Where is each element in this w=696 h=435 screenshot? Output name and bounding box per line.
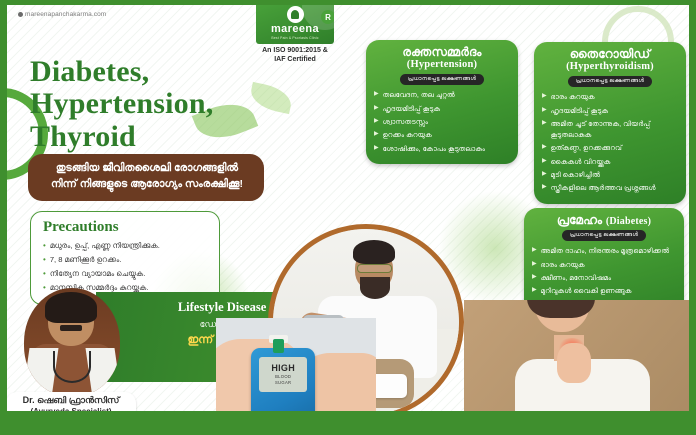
bullet-icon: • xyxy=(43,281,46,295)
symptom-card-hypertension: രക്തസമ്മർദം (Hypertension) പ്രധാനപ്പെട്ട… xyxy=(366,40,518,164)
card-title-english: (Hypertension) xyxy=(374,59,510,71)
symptom-item: ▶ ക്ഷീണം, മനോവിഷമം xyxy=(532,272,676,283)
symptom-item: ▶ മുടി കൊഴിച്ചിൽ xyxy=(542,169,678,180)
bullet-icon: • xyxy=(43,253,46,267)
arrow-icon: ▶ xyxy=(532,272,537,282)
symptom-text: ഭാരം കുറയുക xyxy=(541,259,585,270)
symptom-text: ക്ഷീണം, മനോവിഷമം xyxy=(541,272,612,283)
card-title-malayalam: രക്തസമ്മർദം xyxy=(374,46,510,59)
arrow-icon: ▶ xyxy=(374,103,379,113)
symptom-item: ▶ ഹൃദയമിടിപ്പ് കൂടുക xyxy=(542,105,678,116)
symptom-text: ശ്വാസതടസ്സം xyxy=(383,116,428,127)
symptom-item: ▶ ഭാരം കുറയുക xyxy=(532,259,676,270)
symptoms-badge: പ്രധാനപ്പെട്ട ലക്ഷണങ്ങൾ xyxy=(562,230,646,241)
symptom-text: സ്ത്രീകളിലെ ആർത്തവ പ്രശ്നങ്ങൾ xyxy=(551,182,656,193)
page-title: Diabetes, Hypertension, Thyroid xyxy=(30,56,213,153)
symptom-text: ഉറക്കം കുറയുക xyxy=(383,129,432,140)
symptom-text: ഉത്കണ്ഠ, ഉറക്കക്കുറവ് xyxy=(551,142,622,153)
symptom-text: ഹൃദയമിടിപ്പ് കൂടുക xyxy=(551,105,609,116)
symptom-text: മുടി കൊഴിച്ചിൽ xyxy=(551,169,601,180)
bullet-icon: • xyxy=(43,239,46,253)
symptom-text: തലവേദന, തല ചുറ്റൽ xyxy=(383,89,455,100)
malayalam-tagline-banner: തുടങ്ങിയ ജീവിതശൈലി രോഗങ്ങളിൽ നിന്ന് നിങ്… xyxy=(28,154,264,201)
logo-name: mareena xyxy=(271,24,319,35)
precaution-item: • മധുരം, ഉപ്പ്, എണ്ണ നിയന്ത്രിക്കുക. xyxy=(43,239,209,253)
arrow-icon: ▶ xyxy=(532,245,537,255)
arrow-icon: ▶ xyxy=(542,105,547,115)
title-line-3: Thyroid xyxy=(30,121,213,153)
precaution-text: നിത്യേന വ്യായാമം ചെയ്യുക. xyxy=(50,267,146,281)
glucometer-sublabel: BLOOD SUGAR xyxy=(275,374,291,385)
symptom-item: ▶ ഉറക്കം കുറയുക xyxy=(374,129,510,140)
frame-edge-top xyxy=(0,0,696,5)
arrow-icon: ▶ xyxy=(542,169,547,179)
tagline-line-1: തുടങ്ങിയ ജീവിതശൈലി രോഗങ്ങളിൽ xyxy=(40,161,254,177)
doctor-portrait xyxy=(24,288,120,396)
brand-logo: R mareena Best Pain & Psoriasis Clinic A… xyxy=(252,2,338,65)
arrow-icon: ▶ xyxy=(542,118,547,128)
symptoms-badge: പ്രധാനപ്പെട്ട ലക്ഷണങ്ങൾ xyxy=(400,74,484,85)
website-url[interactable]: mareenapanchakarma.com xyxy=(18,11,106,18)
precaution-text: 7, 8 മണിക്കൂർ ഉറക്കം. xyxy=(50,253,122,267)
card-title: രക്തസമ്മർദം (Hypertension) xyxy=(374,46,510,71)
symptom-text: അമിത ദാഹം, നിരന്തരം മൂത്രമൊഴിക്കൽ xyxy=(541,245,670,256)
arrow-icon: ▶ xyxy=(532,259,537,269)
eyeglasses-icon xyxy=(357,264,392,273)
arrow-icon: ▶ xyxy=(532,285,537,295)
symptom-text: അമിത ചൂട് തോന്നുക, വിയർപ്പ് കൂടുതലാകുക xyxy=(551,118,678,140)
symptom-text: ഹൃദയമിടിപ്പ് കൂടുക xyxy=(383,103,441,114)
glucometer-reading: HIGH xyxy=(271,364,295,373)
logo-card: R mareena Best Pain & Psoriasis Clinic xyxy=(256,2,334,44)
arrow-icon: ▶ xyxy=(374,89,379,99)
frame-edge-bottom xyxy=(0,411,696,435)
registered-mark-icon: R xyxy=(321,10,334,24)
doctor-name: Dr. ഷെബി ഫ്രാൻസിസ് xyxy=(12,395,130,407)
card-title-english: (Diabetes) xyxy=(606,216,651,227)
tagline-line-2: നിന്ന് നിങ്ങളുടെ ആരോഗ്യം സംരക്ഷിക്കൂ! xyxy=(40,177,254,193)
precaution-item: • 7, 8 മണിക്കൂർ ഉറക്കം. xyxy=(43,253,209,267)
symptom-item: ▶ ഭാരം കുറയുക xyxy=(542,91,678,102)
precautions-title: Precautions xyxy=(43,219,209,236)
arrow-icon: ▶ xyxy=(542,156,547,166)
stethoscope-icon xyxy=(53,351,91,383)
bullet-icon: • xyxy=(43,267,46,281)
website-url-text: mareenapanchakarma.com xyxy=(25,11,106,18)
card-title: പ്രമേഹം (Diabetes) xyxy=(532,214,676,227)
symptoms-badge: പ്രധാനപ്പെട്ട ലക്ഷണങ്ങൾ xyxy=(568,76,652,87)
symptom-card-thyroid: തൈറോയിഡ് (Hyperthyroidism) പ്രധാനപ്പെട്ട… xyxy=(534,42,686,204)
symptom-text: കൈകൾ വിറയ്ക്കുക xyxy=(551,156,611,167)
symptom-item: ▶ അമിത ദാഹം, നിരന്തരം മൂത്രമൊഴിക്കൽ xyxy=(532,245,676,256)
symptom-text: ശോഷിക്കും, കോപം കൂടുതലാകും xyxy=(383,143,485,154)
arrow-icon: ▶ xyxy=(542,182,547,192)
poster-root: mareenapanchakarma.com R mareena Best Pa… xyxy=(0,0,696,435)
arrow-icon: ▶ xyxy=(542,91,547,101)
leaf-icon xyxy=(248,82,294,114)
symptom-item: ▶ ശ്വാസതടസ്സം xyxy=(374,116,510,127)
iso-certification: An ISO 9001:2015 & IAF Certified xyxy=(252,47,338,65)
card-title: തൈറോയിഡ് (Hyperthyroidism) xyxy=(542,48,678,73)
symptom-item: ▶ ശോഷിക്കും, കോപം കൂടുതലാകും xyxy=(374,143,510,154)
card-title-malayalam: തൈറോയിഡ് xyxy=(542,48,678,61)
symptom-item: ▶ കൈകൾ വിറയ്ക്കുക xyxy=(542,156,678,167)
precaution-text: മധുരം, ഉപ്പ്, എണ്ണ നിയന്ത്രിക്കുക. xyxy=(50,239,160,253)
title-line-1: Diabetes, xyxy=(30,56,213,88)
glucometer-screen: HIGH BLOOD SUGAR xyxy=(259,357,308,392)
arrow-icon: ▶ xyxy=(542,142,547,152)
logo-tagline: Best Pain & Psoriasis Clinic xyxy=(271,36,318,40)
arrow-icon: ▶ xyxy=(374,116,379,126)
symptom-item: ▶ അമിത ചൂട് തോന്നുക, വിയർപ്പ് കൂടുതലാകുക xyxy=(542,118,678,140)
symptom-item: ▶ സ്ത്രീകളിലെ ആർത്തവ പ്രശ്നങ്ങൾ xyxy=(542,182,678,193)
precaution-item: • നിത്യേന വ്യായാമം ചെയ്യുക. xyxy=(43,267,209,281)
globe-icon xyxy=(18,12,23,17)
symptom-item: ▶ ഉത്കണ്ഠ, ഉറക്കക്കുറവ് xyxy=(542,142,678,153)
symptom-item: ▶ ഹൃദയമിടിപ്പ് കൂടുക xyxy=(374,103,510,114)
frame-edge-left xyxy=(0,0,7,435)
card-title-malayalam: പ്രമേഹം xyxy=(557,213,602,227)
symptom-item: ▶ തലവേദന, തല ചുറ്റൽ xyxy=(374,89,510,100)
title-line-2: Hypertension, xyxy=(30,88,213,120)
symptom-item: ▶ മുറിവുകൾ വൈകി ഉണങ്ങുക xyxy=(532,285,676,296)
symptom-text: ഭാരം കുറയുക xyxy=(551,91,595,102)
test-strip-icon xyxy=(273,339,285,352)
arrow-icon: ▶ xyxy=(374,143,379,153)
card-title-english: (Hyperthyroidism) xyxy=(542,61,678,73)
leaf-emblem-icon xyxy=(287,6,304,23)
frame-edge-right xyxy=(689,0,696,435)
arrow-icon: ▶ xyxy=(374,129,379,139)
symptom-text: മുറിവുകൾ വൈകി ഉണങ്ങുക xyxy=(541,285,632,296)
